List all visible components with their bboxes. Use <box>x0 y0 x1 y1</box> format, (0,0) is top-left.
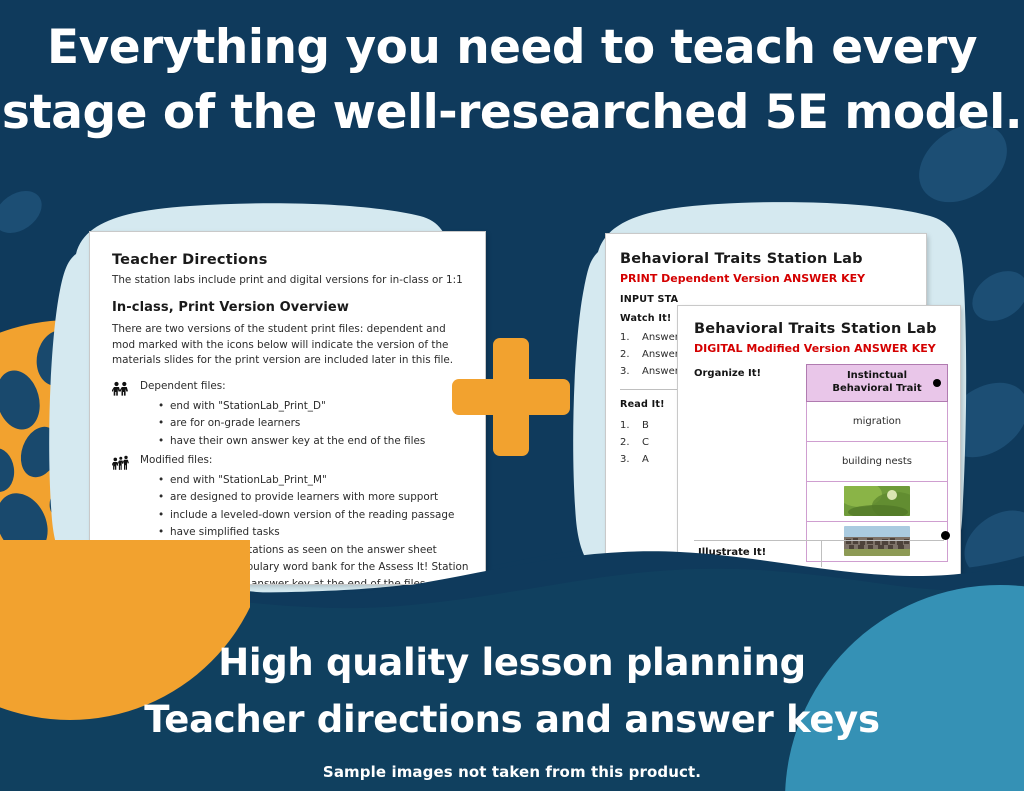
modified-files-group: Modified files: <box>112 454 467 469</box>
plus-vertical-bar <box>493 338 529 456</box>
modified-files-bullets: end with "StationLab_Print_M" are design… <box>112 471 467 584</box>
answer-key-subtitle: DIGITAL Modified Version ANSWER KEY <box>694 342 948 355</box>
list-item: provide a vocabulary word bank for the A… <box>158 559 467 576</box>
input-station-heading: INPUT STA <box>620 294 912 305</box>
drag-handle-dot-bottom[interactable] <box>941 531 950 540</box>
drag-handle-dot[interactable] <box>933 379 941 387</box>
illustrate-it-blank-cell <box>822 541 944 567</box>
list-item: have their own answer key at the end of … <box>158 432 467 449</box>
list-item: include a leveled-down version of the re… <box>158 506 467 523</box>
document-intro: The station labs include print and digit… <box>112 273 467 289</box>
list-item: have their own answer key at the end of … <box>158 576 467 584</box>
section-paragraph: There are two versions of the student pr… <box>112 322 467 369</box>
teacher-directions-document: Teacher Directions The station labs incl… <box>90 232 485 584</box>
table-row <box>807 481 948 521</box>
bottom-caption-block: High quality lesson planning Teacher dir… <box>0 634 1024 781</box>
answer-number: 2. <box>620 348 642 362</box>
document-title: Teacher Directions <box>112 252 467 268</box>
instinctual-trait-table: Instinctual Behavioral Trait migration b… <box>806 364 948 562</box>
table-cell-migration: migration <box>807 401 948 441</box>
headline-line-1: Everything you need to teach every <box>47 20 977 75</box>
dependent-files-group: Dependent files: <box>112 380 467 395</box>
digital-answer-key-document: Behavioral Traits Station Lab DIGITAL Mo… <box>678 306 960 581</box>
modified-files-label: Modified files: <box>140 454 212 466</box>
list-item: end with "StationLab_Print_D" <box>158 397 467 414</box>
modified-learners-icon <box>112 455 129 470</box>
list-item: end with "StationLab_Print_M" <box>158 471 467 488</box>
document-title: Behavioral Traits Station Lab <box>620 251 912 267</box>
table-row: building nests <box>807 441 948 481</box>
sample-images-footnote: Sample images not taken from this produc… <box>0 763 1024 781</box>
dependent-files-bullets: end with "StationLab_Print_D" are for on… <box>112 397 467 449</box>
table-row: migration <box>807 401 948 441</box>
answer-key-subtitle: PRINT Dependent Version ANSWER KEY <box>620 272 912 285</box>
table-header-line-1: Instinctual <box>847 370 907 381</box>
section-heading-print-overview: In-class, Print Version Overview <box>112 300 467 315</box>
green-foliage-photo <box>844 486 910 516</box>
answer-number: 2. <box>620 436 642 450</box>
table-header-cell: Instinctual Behavioral Trait <box>807 365 948 402</box>
list-item: have simplified tasks <box>158 524 467 541</box>
promo-graphic: Everything you need to teach every stage… <box>0 0 1024 791</box>
organize-it-label: Organize It! <box>694 364 790 562</box>
document-title: Behavioral Traits Station Lab <box>694 321 948 337</box>
table-header-line-2: Behavioral Trait <box>832 383 921 394</box>
table-cell-building-nests: building nests <box>807 441 948 481</box>
answer-number: 3. <box>620 453 642 467</box>
illustrate-it-heading: Illustrate It! <box>694 541 822 567</box>
answer-number: 1. <box>620 419 642 433</box>
plus-divider-icon <box>452 338 570 456</box>
table-cell-photo-1 <box>807 481 948 521</box>
headline: Everything you need to teach every stage… <box>0 16 1024 146</box>
answer-number: 3. <box>620 365 642 379</box>
illustrate-it-row: Illustrate It! <box>694 540 944 567</box>
bottom-line-2: Teacher directions and answer keys <box>0 691 1024 748</box>
dependent-learners-icon <box>112 381 129 396</box>
organize-it-section: Organize It! Instinctual Behavioral Trai… <box>694 364 948 562</box>
bottom-line-1: High quality lesson planning <box>0 634 1024 691</box>
list-item: are for on-grade learners <box>158 415 467 432</box>
headline-line-2: stage of the well-researched 5E model. <box>0 81 1024 146</box>
list-item: require fewer stations as seen on the an… <box>158 541 467 558</box>
answer-number: 1. <box>620 331 642 345</box>
dependent-files-label: Dependent files: <box>140 380 226 392</box>
list-item: are designed to provide learners with mo… <box>158 489 467 506</box>
